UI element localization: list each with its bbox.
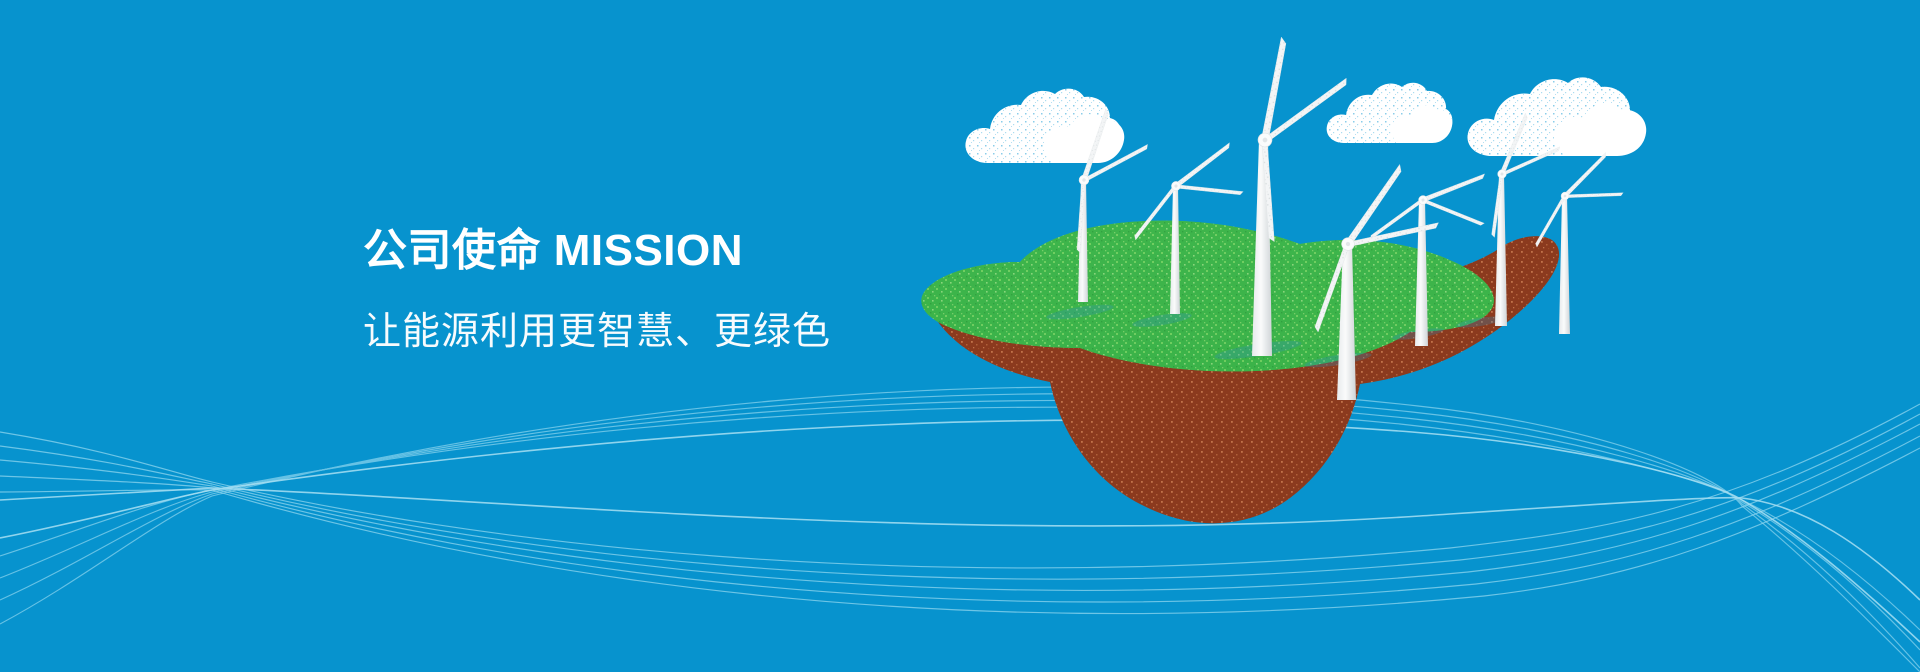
page-title: 公司使命 MISSION bbox=[363, 228, 831, 274]
floating-island bbox=[921, 221, 1559, 524]
illustration-layer bbox=[0, 0, 1920, 672]
mission-banner: 公司使命 MISSION 让能源利用更智慧、更绿色 bbox=[0, 0, 1920, 672]
page-subtitle: 让能源利用更智慧、更绿色 bbox=[363, 312, 831, 354]
cloud-right bbox=[1467, 77, 1646, 156]
cloud-middle bbox=[1327, 83, 1453, 143]
turbine-7 bbox=[1520, 148, 1642, 334]
mission-text-block: 公司使命 MISSION 让能源利用更智慧、更绿色 bbox=[363, 228, 831, 354]
